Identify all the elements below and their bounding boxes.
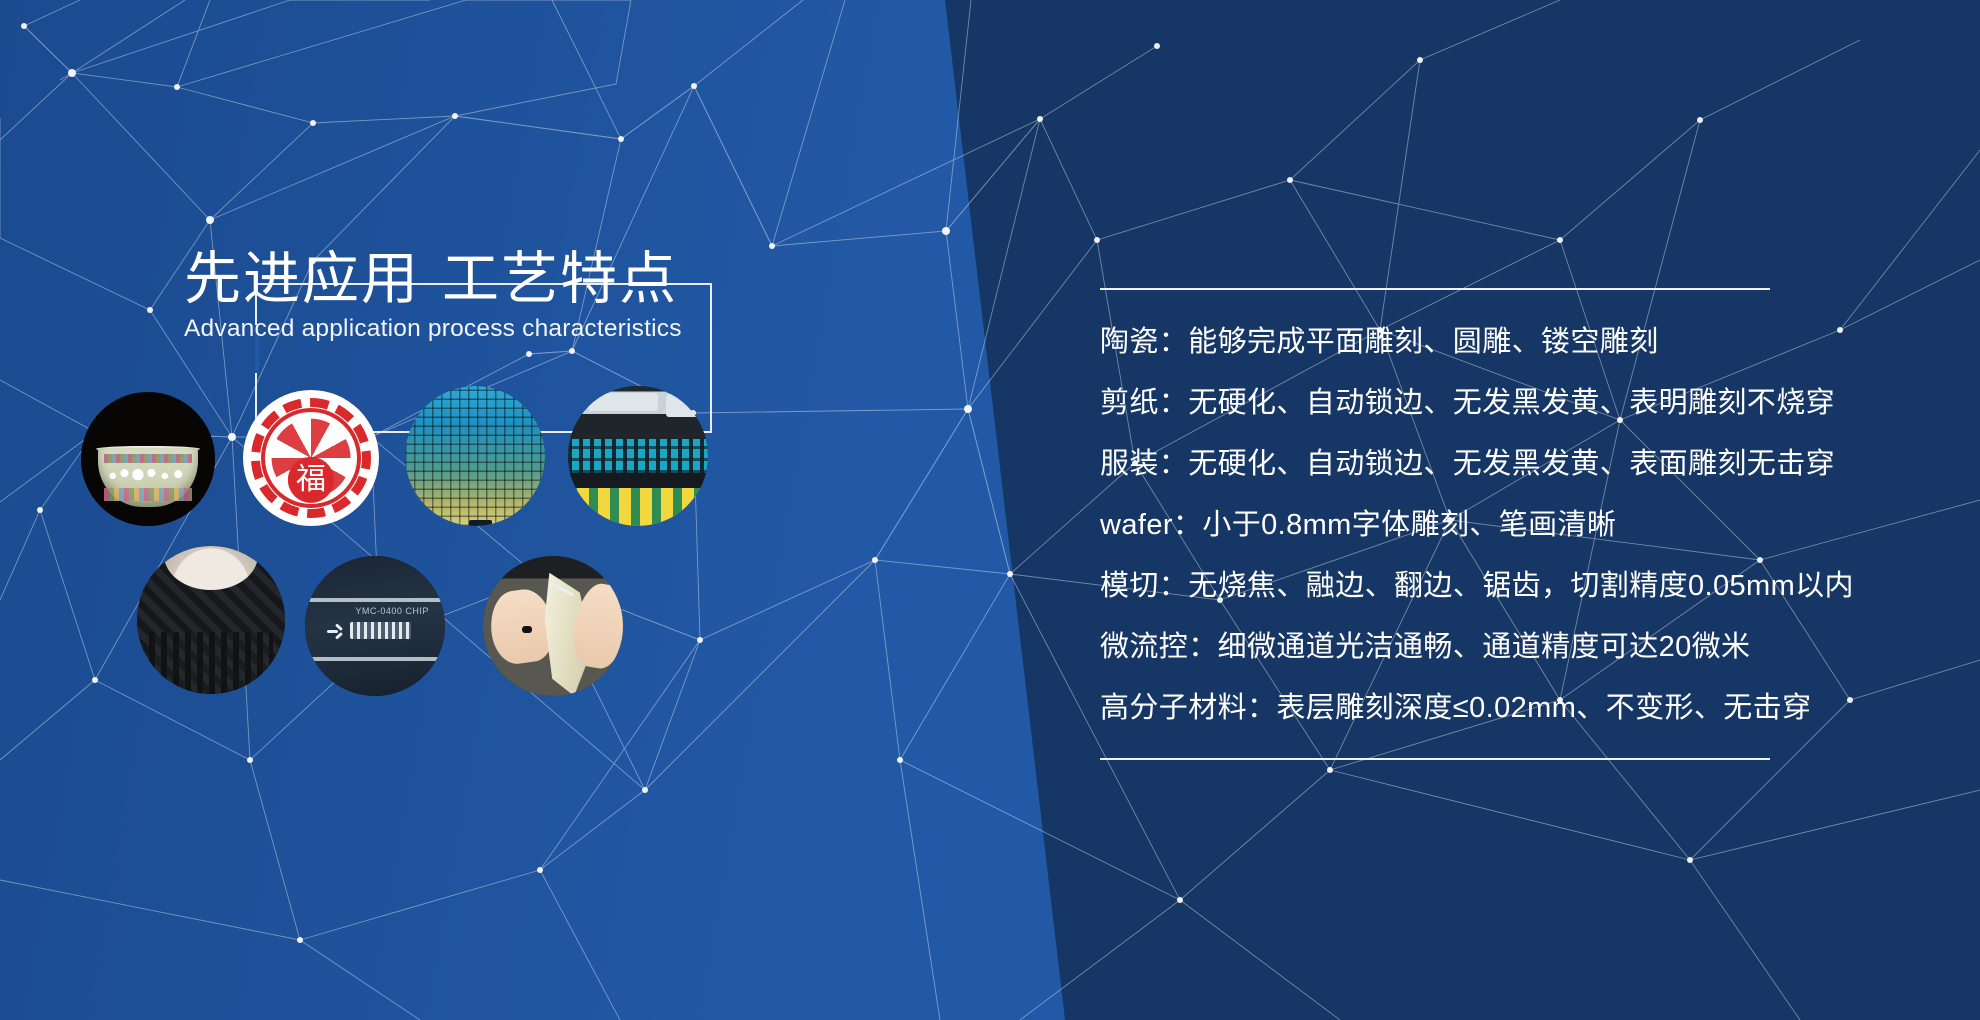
- spec-item: 高分子材料：表层雕刻深度≤0.02mm、不变形、无击穿: [1100, 678, 1890, 739]
- spec-item: 模切：无烧焦、融边、翻边、锯齿，切割精度0.05mm以内: [1100, 556, 1890, 617]
- banner-root: 先进应用工艺特点 Advanced application process ch…: [0, 0, 1980, 1020]
- spec-rule-top: [1100, 288, 1770, 290]
- spec-item: 陶瓷：能够完成平面雕刻、圆雕、镂空雕刻: [1100, 312, 1890, 373]
- gallery-image-carbon-garment: [137, 546, 285, 694]
- spec-item: 剪纸：无硬化、自动锁边、无发黑发黄、表明雕刻不烧穿: [1100, 373, 1890, 434]
- page-title: 先进应用工艺特点: [184, 246, 744, 312]
- spec-list: 陶瓷：能够完成平面雕刻、圆雕、镂空雕刻 剪纸：无硬化、自动锁边、无发黑发黄、表明…: [1100, 312, 1890, 739]
- gallery-image-ceramic-bowl: [81, 392, 215, 526]
- spec-rule-bottom: [1100, 758, 1770, 760]
- spec-item: 微流控：细微通道光洁通畅、通道精度可达20微米: [1100, 617, 1890, 678]
- page-subtitle: Advanced application process characteris…: [184, 314, 744, 344]
- gallery-image-wafer-closeup: [568, 386, 708, 526]
- gallery-image-polymer-film: [483, 556, 623, 696]
- spec-item: wafer：小于0.8mm字体雕刻、笔画清晰: [1100, 495, 1890, 556]
- title-block: 先进应用工艺特点 Advanced application process ch…: [184, 246, 744, 344]
- gallery-image-red-paper-cut: 福: [243, 390, 379, 526]
- gallery-image-silicon-wafer: [405, 386, 545, 526]
- gallery-image-microfluidic-chip: YMC-0400 CHIP: [305, 556, 445, 696]
- microfluidic-chip-label: YMC-0400 CHIP: [355, 606, 429, 616]
- spec-item: 服装：无硬化、自动锁边、无发黑发黄、表面雕刻无击穿: [1100, 434, 1890, 495]
